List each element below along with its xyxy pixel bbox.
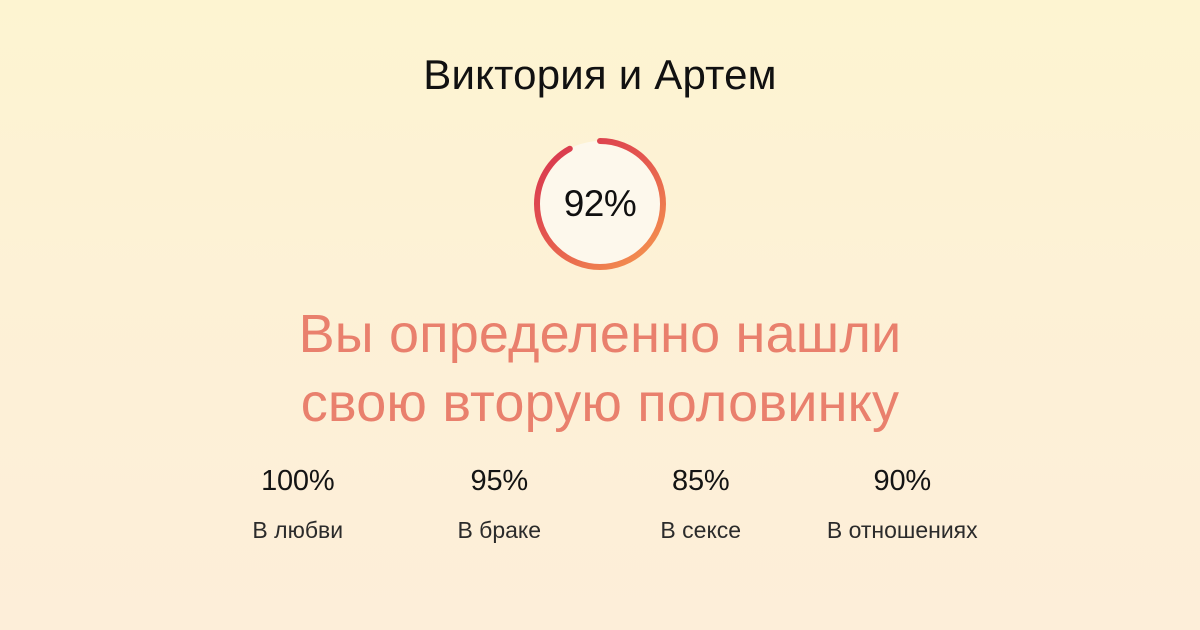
- stat-item: 95% В браке: [399, 466, 601, 543]
- stat-item: 90% В отношениях: [802, 466, 1004, 543]
- result-headline-line-1: Вы определенно нашли: [299, 300, 902, 369]
- stat-item: 100% В любви: [197, 466, 399, 543]
- result-headline-line-2: свою вторую половинку: [299, 369, 902, 438]
- compatibility-gauge: 92%: [530, 134, 670, 274]
- gauge-percent-value: 92%: [530, 134, 670, 274]
- compatibility-result-card: Виктория и Артем 92% Вы определенно нашл…: [0, 0, 1200, 630]
- stat-value: 90%: [874, 466, 931, 498]
- stat-label: В любви: [252, 518, 343, 543]
- stat-label: В браке: [457, 518, 541, 543]
- stat-value: 85%: [672, 466, 729, 498]
- stat-label: В отношениях: [827, 518, 978, 543]
- stat-value: 100%: [261, 466, 334, 498]
- stat-label: В сексе: [660, 518, 741, 543]
- result-headline: Вы определенно нашли свою вторую половин…: [299, 274, 902, 438]
- stats-row: 100% В любви 95% В браке 85% В сексе 90%…: [197, 466, 1003, 543]
- stat-value: 95%: [471, 466, 528, 498]
- page-title: Виктория и Артем: [423, 0, 776, 98]
- stat-item: 85% В сексе: [600, 466, 802, 543]
